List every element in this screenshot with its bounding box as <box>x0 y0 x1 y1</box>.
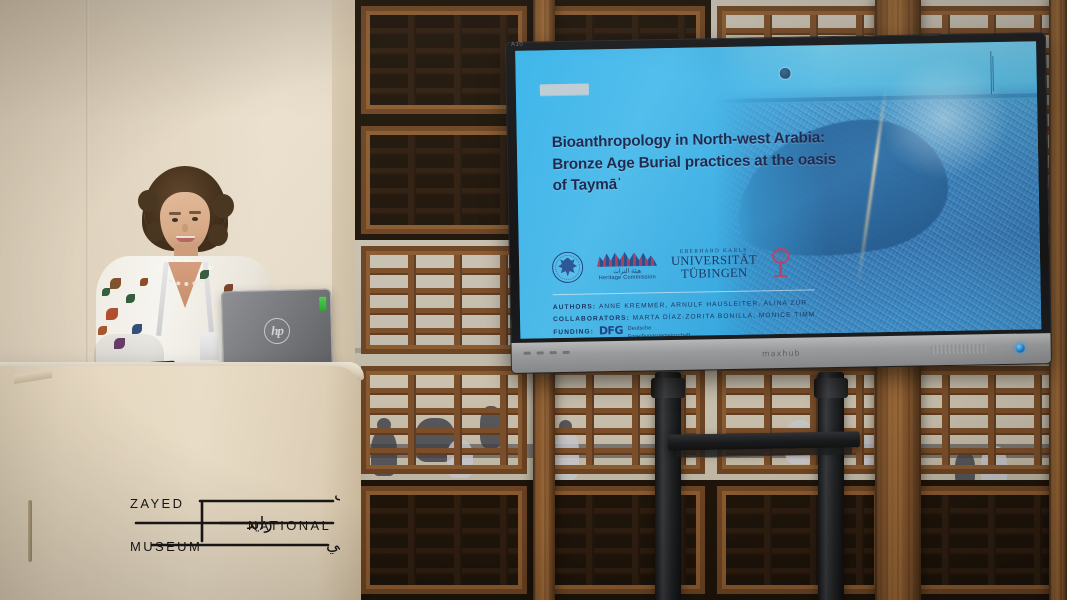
dfg-fullname: Deutsche Forschungsgemeinschaft German R… <box>628 325 704 339</box>
znm-text-arabic-1: متحف <box>334 485 340 505</box>
wood-column <box>1049 0 1067 600</box>
eyebrow-right <box>189 211 201 214</box>
lattice-cell <box>355 120 533 240</box>
presenter-face <box>160 192 210 252</box>
collaborators-value: MARTA DÍAZ-ZORITA BONILLA, MONICE TIMM <box>633 312 816 322</box>
display-speaker-grille <box>931 344 987 354</box>
hair-curl <box>138 190 158 212</box>
heritage-commission-logo: هيئة التراث Heritage Commission <box>597 251 658 281</box>
lattice-cell <box>533 360 711 480</box>
slide-credits: AUTHORS: ANNE KREMMER, ARNULF HAUSLEITER… <box>553 296 894 339</box>
hp-laptop[interactable]: hp <box>221 289 333 374</box>
lattice-cell <box>355 360 533 480</box>
slide-placeholder-bar <box>540 83 589 95</box>
hair-curl <box>212 194 234 218</box>
floral-embroidery <box>200 270 209 279</box>
uni-line-3: TÜBINGEN <box>671 266 757 280</box>
laptop-sticker <box>319 297 326 311</box>
mouth <box>176 236 195 242</box>
floral-embroidery <box>102 288 110 296</box>
authors-label: AUTHORS: <box>553 303 596 311</box>
dfg-logo: DFG <box>599 325 623 336</box>
bezel-model-tag: A10 <box>511 42 523 48</box>
display-stand-leg-right <box>818 372 844 600</box>
lattice-cell <box>711 480 889 600</box>
lattice-cell <box>533 480 711 600</box>
floral-embroidery <box>132 324 142 334</box>
authors-value: ANNE KREMMER, ARNULF HAUSLEITER, ALINA Z… <box>599 300 807 311</box>
wood-grain <box>1049 0 1067 600</box>
wall-display[interactable]: A10 B <box>506 33 1051 373</box>
slide-emblem-icon <box>779 67 792 80</box>
floral-embroidery <box>106 308 118 320</box>
control-button[interactable] <box>563 351 570 354</box>
dfg-line-2: Forschungsgemeinschaft <box>628 333 691 339</box>
display-brand-label: maxhub <box>762 348 801 358</box>
wall-shading <box>0 0 372 120</box>
heritage-crest-icon <box>597 251 657 267</box>
collaborators-label: COLLABORATORS: <box>553 315 630 323</box>
tree-emblem-icon <box>771 248 792 278</box>
stand-collar <box>651 378 685 398</box>
laptop-lid: hp <box>221 289 333 374</box>
display-stand-leg-left <box>655 372 681 600</box>
lattice-cell <box>355 480 533 600</box>
slide-logo-row: هيئة التراث Heritage Commission EBERHARD… <box>552 242 792 288</box>
control-button[interactable] <box>550 351 557 354</box>
floral-embroidery <box>126 294 135 303</box>
lattice-cell <box>355 240 533 360</box>
floral-embroidery <box>110 278 121 289</box>
znm-text-arabic-3: الوطني <box>326 535 340 554</box>
control-button[interactable] <box>537 351 544 354</box>
podium-handle <box>28 500 32 562</box>
hair-curl <box>208 224 228 246</box>
funding-label: FUNDING: <box>553 327 594 339</box>
display-bezel: A10 B <box>506 33 1051 373</box>
power-led-icon[interactable] <box>1016 344 1025 353</box>
control-button[interactable] <box>524 352 531 355</box>
presentation-slide: Bioanthropology in North-west Arabia: Br… <box>515 41 1041 338</box>
floral-embroidery <box>98 326 107 335</box>
znm-text-arabic-2: زايد <box>246 514 273 534</box>
dfg-line-1: Deutsche <box>628 326 652 332</box>
floral-embroidery <box>140 278 148 286</box>
tree-root <box>774 275 787 278</box>
hp-logo-icon: hp <box>264 318 291 345</box>
slide-divider <box>553 289 815 295</box>
stand-collar <box>814 378 848 398</box>
university-tuebingen-logo: EBERHARD KARLS UNIVERSITÄT TÜBINGEN <box>671 248 758 281</box>
lattice-cell <box>711 360 889 480</box>
heritage-english-label: Heritage Commission <box>597 274 657 281</box>
display-controls[interactable] <box>524 351 570 355</box>
display-screen[interactable]: Bioanthropology in North-west Arabia: Br… <box>515 41 1041 338</box>
nose <box>182 224 188 232</box>
znm-text-zayed: ZAYED <box>130 496 184 511</box>
eyebrow-left <box>169 212 181 215</box>
znm-text-museum: MUSEUM <box>130 539 202 554</box>
eye-right <box>192 217 198 221</box>
zayed-national-museum-logo: ZAYED NATIONAL MUSEUM متحف زايد الوطني <box>128 478 340 554</box>
slide-content: Bioanthropology in North-west Arabia: Br… <box>515 41 1041 338</box>
presentation-room-photo: A10 B <box>0 0 1067 600</box>
saudi-heritage-seal-icon <box>552 251 584 283</box>
eye-left <box>172 218 178 222</box>
slide-title: Bioanthropology in North-west Arabia: Br… <box>552 127 853 197</box>
name-badge <box>200 332 219 360</box>
